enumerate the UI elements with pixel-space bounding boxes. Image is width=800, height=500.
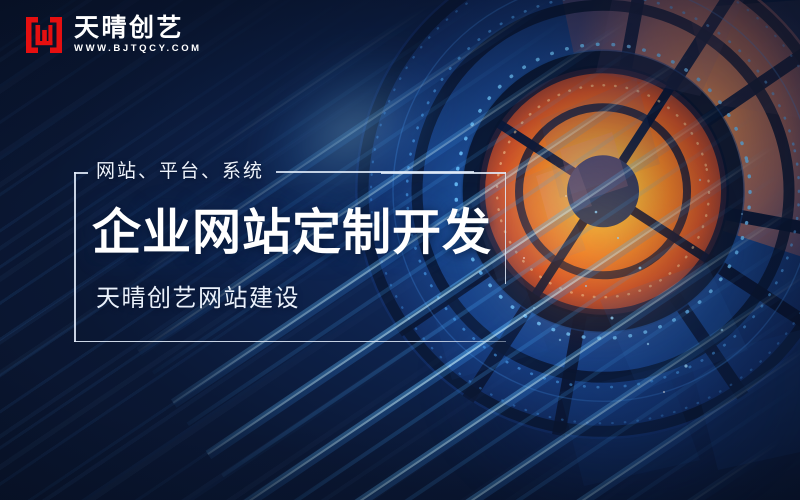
frame-right-rail — [505, 172, 507, 284]
eyebrow-text: 网站、平台、系统 — [96, 161, 264, 183]
eyebrow-row: 网站、平台、系统 — [96, 161, 496, 183]
page-title: 企业网站定制开发 — [92, 204, 492, 262]
brand-logo[interactable]: 天晴创艺 WWW.BJTQCY.COM — [25, 16, 202, 54]
brand-name: 天晴创艺 — [74, 16, 202, 41]
eyebrow-rule — [276, 171, 474, 173]
brand-website-url: WWW.BJTQCY.COM — [74, 44, 202, 54]
promo-banner: 天晴创艺 WWW.BJTQCY.COM 网站、平台、系统 企业网站定制开发 天晴… — [0, 0, 800, 500]
tianqing-bracket-logo-icon — [25, 16, 63, 54]
subheadline: 天晴创艺网站建设 — [96, 284, 300, 314]
logo-text-block: 天晴创艺 WWW.BJTQCY.COM — [74, 16, 202, 54]
headline-block: 网站、平台、系统 企业网站定制开发 天晴创艺网站建设 — [74, 172, 506, 342]
frame-bottom-rail — [74, 341, 506, 343]
frame-top-stub — [74, 172, 88, 174]
frame-left-rail — [74, 172, 76, 342]
